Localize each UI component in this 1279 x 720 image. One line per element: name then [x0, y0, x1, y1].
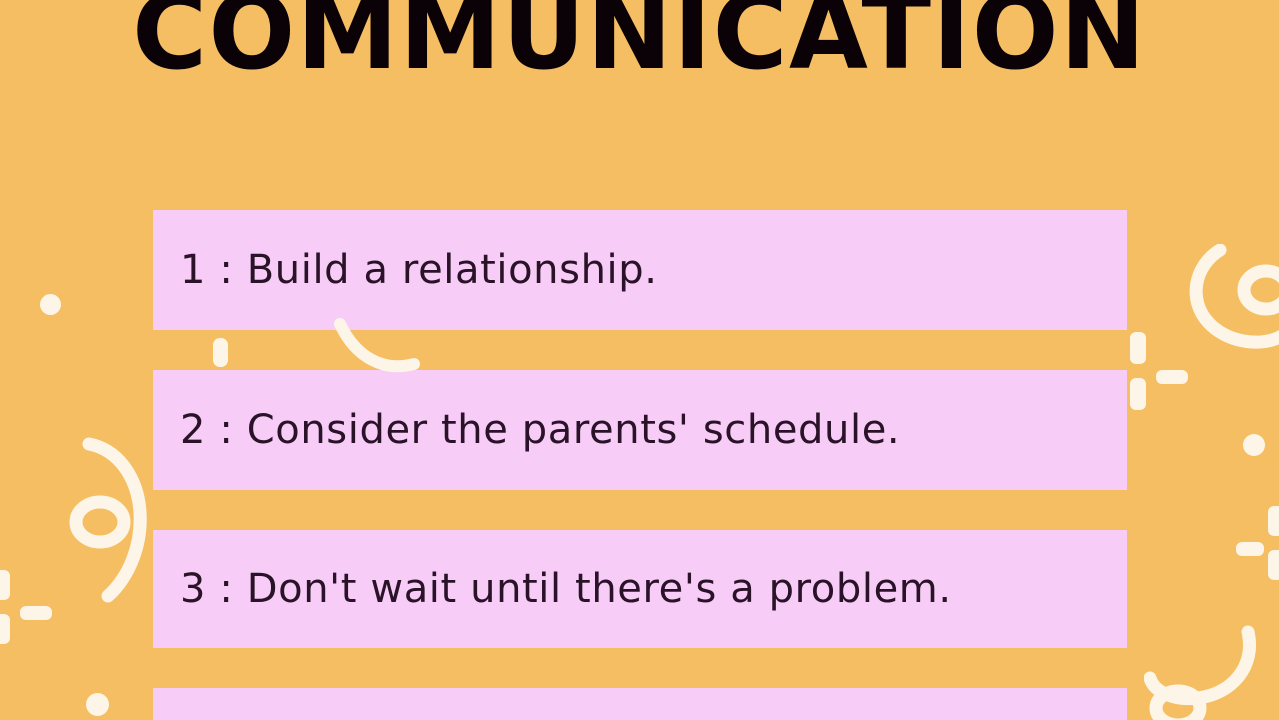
confetti-dot-icon: [86, 693, 109, 716]
tip-text-3: 3 : Don't wait until there's a problem.: [153, 566, 952, 612]
confetti-cross-icon: [1124, 332, 1204, 412]
tip-band-1: 1 : Build a relationship.: [153, 210, 1127, 330]
page-title: COMMUNICATION: [13, 0, 1266, 86]
tip-band-2: 2 : Consider the parents' schedule.: [153, 370, 1127, 490]
tip-text-2: 2 : Consider the parents' schedule.: [153, 407, 900, 453]
poster-canvas: COMMUNICATION 1 : Build a relationship. …: [0, 0, 1279, 720]
tip-band-4: [153, 688, 1127, 720]
confetti-dot-icon: [40, 294, 61, 315]
confetti-pill-icon: [213, 338, 228, 367]
tip-text-1: 1 : Build a relationship.: [153, 247, 658, 293]
tip-band-3: 3 : Don't wait until there's a problem.: [153, 530, 1127, 648]
confetti-cross-icon: [1232, 506, 1279, 582]
confetti-ribbon-icon: [1144, 622, 1268, 720]
confetti-dot-icon: [1243, 434, 1265, 456]
confetti-cross-icon: [0, 570, 64, 648]
